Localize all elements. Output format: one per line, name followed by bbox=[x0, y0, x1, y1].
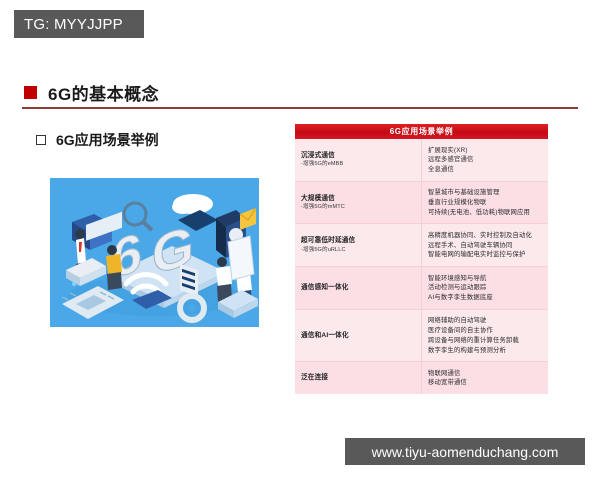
table-row: 大规模通信-增强5G的mMTC智慧城市与基础设施管理垂直行业规模化物联可持续(无… bbox=[295, 181, 548, 224]
subheading-square-bullet-icon bbox=[36, 135, 46, 145]
scenario-category-name: 通信和AI一体化 bbox=[301, 332, 421, 340]
scenario-item: 远程手术、自动驾驶车辆协同 bbox=[428, 242, 548, 249]
scenario-items-cell: 网络辅助的自动驾驶医疗设备间的自主协作跨设备与网络的重计算任务卸载数字孪生的构建… bbox=[422, 309, 549, 361]
scenario-table: 6G应用场景举例 沉浸式通信-增强5G的eMBB扩展现实(XR)远程多感官通信全… bbox=[295, 124, 548, 394]
scenario-item: 物联网通信 bbox=[428, 370, 548, 377]
table-row: 沉浸式通信-增强5G的eMBB扩展现实(XR)远程多感官通信全息通信 bbox=[295, 139, 548, 181]
scenario-category-subtitle: -增强5G的uRLLC bbox=[301, 247, 421, 253]
scenario-item: 远程多感官通信 bbox=[428, 156, 548, 163]
scenario-items-cell: 物联网通信移动宽带通信 bbox=[422, 362, 549, 394]
scenario-item: 全息通信 bbox=[428, 166, 548, 173]
scenario-category-cell: 泛在连接 bbox=[295, 362, 422, 394]
scenario-category-name: 泛在连接 bbox=[301, 374, 421, 382]
slide-title-text: 6G的基本概念 bbox=[48, 80, 159, 105]
scenario-item: 跨设备与网络的重计算任务卸载 bbox=[428, 337, 548, 344]
scenario-item: 移动宽带通信 bbox=[428, 379, 548, 386]
table-row: 通信感知一体化智能环境感知与导航活动检测与运动跟踪AI与数字孪生数据底座 bbox=[295, 267, 548, 310]
scenario-category-name: 通信感知一体化 bbox=[301, 284, 421, 292]
site-watermark-label: www.tiyu-aomenduchang.com bbox=[372, 444, 559, 460]
scenario-item: 智能电网的输配电实时监控与保护 bbox=[428, 251, 548, 258]
scenario-table-header-cell: 6G应用场景举例 bbox=[295, 124, 548, 139]
tg-watermark-badge: TG: MYYJJPP bbox=[14, 10, 144, 38]
title-bullet-icon bbox=[24, 86, 37, 99]
scenario-category-cell: 超可靠低时延通信-增强5G的uRLLC bbox=[295, 224, 422, 267]
tg-watermark-label: TG: MYYJJPP bbox=[24, 16, 123, 33]
scenario-item: 扩展现实(XR) bbox=[428, 147, 548, 154]
scenario-category-cell: 沉浸式通信-增强5G的eMBB bbox=[295, 139, 422, 181]
scenario-table-body: 沉浸式通信-增强5G的eMBB扩展现实(XR)远程多感官通信全息通信大规模通信-… bbox=[295, 139, 548, 394]
scenario-category-name: 超可靠低时延通信 bbox=[301, 237, 421, 245]
scenario-items-cell: 智慧城市与基础设施管理垂直行业规模化物联可持续(无电池、低功耗)物联网应用 bbox=[422, 181, 549, 224]
scenario-item: 高精度机器协同、实时控制及自动化 bbox=[428, 232, 548, 239]
scenario-item: 垂直行业规模化物联 bbox=[428, 199, 548, 206]
scenario-item: 医疗设备间的自主协作 bbox=[428, 327, 548, 334]
scenario-item: 活动检测与运动跟踪 bbox=[428, 284, 548, 291]
scenario-table-head: 6G应用场景举例 bbox=[295, 124, 548, 139]
scenario-category-name: 大规模通信 bbox=[301, 195, 421, 203]
scenario-category-cell: 通信感知一体化 bbox=[295, 267, 422, 310]
illustration-artwork: 6 G bbox=[50, 178, 259, 327]
scenario-item: 可持续(无电池、低功耗)物联网应用 bbox=[428, 209, 548, 216]
site-watermark-badge: www.tiyu-aomenduchang.com bbox=[345, 438, 585, 465]
table-row: 泛在连接物联网通信移动宽带通信 bbox=[295, 362, 548, 394]
slide-subheading: 6G应用场景举例 bbox=[36, 130, 159, 150]
title-divider bbox=[22, 107, 578, 109]
scenario-item: 智慧城市与基础设施管理 bbox=[428, 189, 548, 196]
scenario-item: 智能环境感知与导航 bbox=[428, 275, 548, 282]
scenario-category-subtitle: -增强5G的eMBB bbox=[301, 161, 421, 167]
scenario-table-header-row: 6G应用场景举例 bbox=[295, 124, 548, 139]
scenario-items-cell: 扩展现实(XR)远程多感官通信全息通信 bbox=[422, 139, 549, 181]
scenario-item: AI与数字孪生数据底座 bbox=[428, 294, 548, 301]
scenario-category-cell: 通信和AI一体化 bbox=[295, 309, 422, 361]
table-row: 通信和AI一体化网络辅助的自动驾驶医疗设备间的自主协作跨设备与网络的重计算任务卸… bbox=[295, 309, 548, 361]
scenario-items-cell: 高精度机器协同、实时控制及自动化远程手术、自动驾驶车辆协同智能电网的输配电实时监… bbox=[422, 224, 549, 267]
slide-title: 6G的基本概念 bbox=[24, 80, 159, 105]
scenario-category-name: 沉浸式通信 bbox=[301, 152, 421, 160]
scenario-items-cell: 智能环境感知与导航活动检测与运动跟踪AI与数字孪生数据底座 bbox=[422, 267, 549, 310]
scenario-item: 网络辅助的自动驾驶 bbox=[428, 317, 548, 324]
slide-subheading-text: 6G应用场景举例 bbox=[56, 130, 159, 150]
scenario-item: 数字孪生的构建与预测分析 bbox=[428, 347, 548, 354]
scenario-category-cell: 大规模通信-增强5G的mMTC bbox=[295, 181, 422, 224]
six-g-illustration: 6 G bbox=[50, 178, 259, 327]
table-row: 超可靠低时延通信-增强5G的uRLLC高精度机器协同、实时控制及自动化远程手术、… bbox=[295, 224, 548, 267]
scenario-category-subtitle: -增强5G的mMTC bbox=[301, 204, 421, 210]
